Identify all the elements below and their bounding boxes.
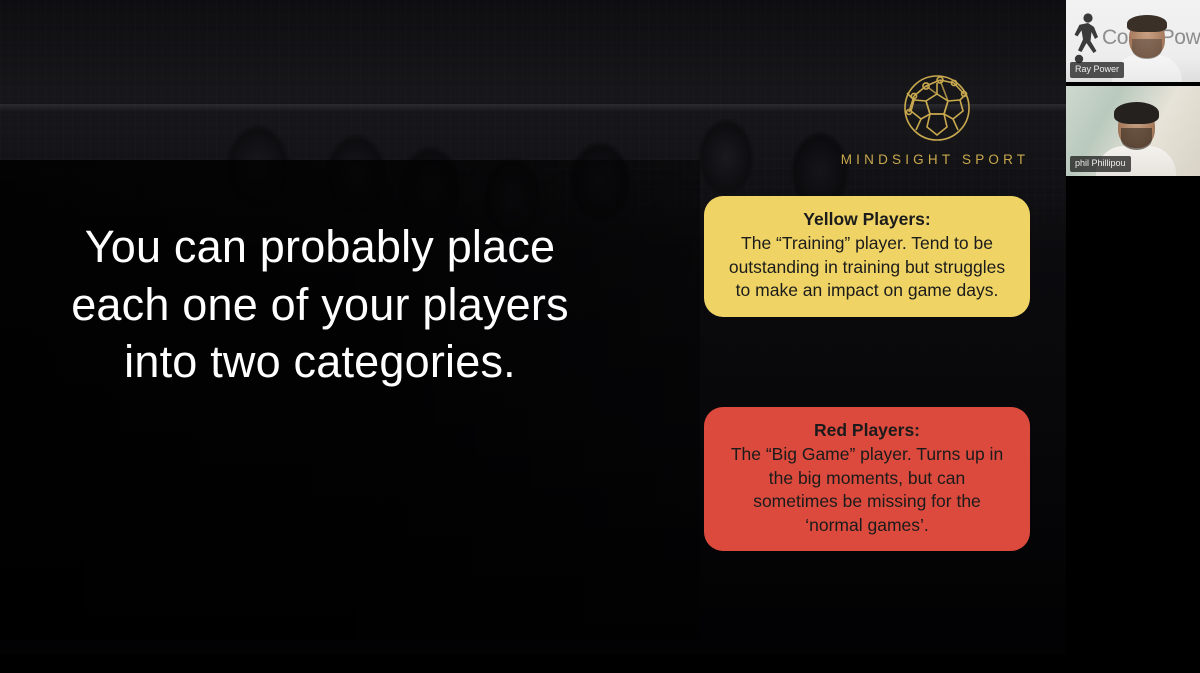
yellow-players-card: Yellow Players: The “Training” player. T… — [704, 196, 1030, 317]
yellow-card-title: Yellow Players: — [726, 208, 1008, 231]
screen-share-window: MINDSIGHT SPORT You can probably place e… — [0, 0, 1200, 673]
yellow-card-body: The “Training” player. Tend to be outsta… — [726, 232, 1008, 302]
slide-headline: You can probably place each one of your … — [0, 218, 640, 391]
headline-line-2: each one of your players — [0, 276, 640, 334]
shared-slide[interactable]: MINDSIGHT SPORT You can probably place e… — [0, 0, 1066, 655]
red-card-body: The “Big Game” player. Turns up in the b… — [726, 443, 1008, 537]
headline-line-3: into two categories. — [0, 333, 640, 391]
red-players-card: Red Players: The “Big Game” player. Turn… — [704, 407, 1030, 551]
tile-1-participant-video — [1116, 18, 1178, 82]
mindsight-sport-logo: MINDSIGHT SPORT — [840, 64, 1030, 167]
participant-video-rail: CoachPower Ray Power phil Phillipou — [1066, 0, 1200, 673]
video-tile-phil-phillipou[interactable]: phil Phillipou — [1066, 86, 1200, 176]
logo-wordmark: MINDSIGHT SPORT — [841, 152, 1030, 167]
tile-2-name-badge: phil Phillipou — [1070, 156, 1131, 172]
soccer-ball-network-icon — [892, 64, 978, 146]
video-tile-ray-power[interactable]: CoachPower Ray Power — [1066, 0, 1200, 82]
headline-line-1: You can probably place — [0, 218, 640, 276]
tile-1-name-badge: Ray Power — [1070, 62, 1124, 78]
red-card-title: Red Players: — [726, 419, 1008, 442]
